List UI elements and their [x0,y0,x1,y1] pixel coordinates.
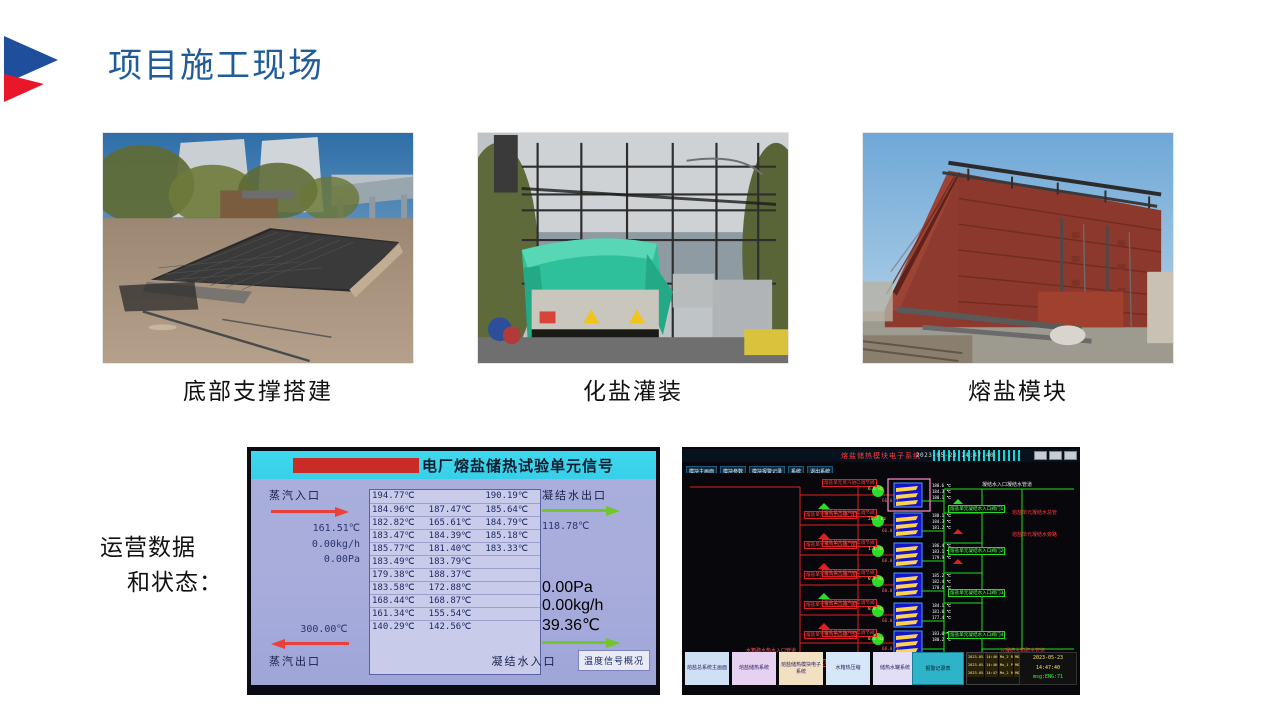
photo-cell-3 [862,132,1174,364]
unit-flow-label-5: 熔盐单元蒸汽进口调节阀 [822,599,877,607]
minimize-icon[interactable] [1034,451,1047,460]
close-icon[interactable] [1064,451,1077,460]
hmi-datetime: 2023-05-23 14:47:40 [916,452,994,459]
photo-molten-salt-module [862,132,1174,364]
redacted-plant-name [293,458,419,473]
toolbar-button-3[interactable]: 水箱热压缩 [826,652,870,685]
temp-cell: 190.19℃ [483,490,540,503]
temp-cell: 184.96℃ [370,503,427,516]
right-label-1: 熔盐单元凝结水总管 [1012,509,1057,516]
window-controls[interactable] [1034,451,1077,460]
signal-screen-title: 电厂熔盐储热试验单元信号 [422,455,614,476]
unit-flow-value-4: 0.7 Hz [868,577,884,582]
unit-flow-label-2: 熔盐单元蒸汽进口调节阀 [822,509,877,517]
temp-cell: 168.87℃ [427,594,484,607]
ops-label-line2: 和状态： [100,566,250,601]
steam-outlet-arrow-icon [271,639,349,649]
steam-inlet-temp: 161.51℃ [269,521,360,537]
svg-text:179.9 ℃: 179.9 ℃ [932,555,951,560]
unit-flow-label-1: 熔盐单元蒸汽进口调节阀 [822,479,877,487]
slide-root: 项目施工现场 [0,0,1280,720]
photo-salt-melting-filling [477,132,789,364]
temp-cell: 183.47℃ [370,529,427,542]
process-diagram: 188.6 ℃184.3 ℃180.1 ℃ 188.1 ℃184.3 ℃181.… [682,473,1080,663]
right-label-2: 熔盐单元凝结水旁路 [1012,531,1057,538]
temp-cell [483,594,540,607]
steam-inlet-flow: 0.00kg/h [269,537,360,553]
log-tag: Mo_1 Pt_G [999,661,1014,669]
unit-temp-value-1: 66.0 ℃ [882,499,900,504]
condensate-inlet-label-group: 凝结水入口 [478,653,570,669]
right-valve-label-3: 熔盐单元凝结水入口阀门3 [948,589,1005,597]
right-valve-label-4: 熔盐单元凝结水入口阀门4 [948,631,1005,639]
steam-inlet-pressure: 0.00Pa [269,552,360,568]
page-title: 项目施工现场 [108,38,324,87]
right-label-0: 凝结水入口凝结水管道 [982,481,1032,488]
log-date: 2023-05-23 [967,661,985,669]
log-tag: Mo_2 RP_Pt_G [999,669,1014,677]
hmi-status-box: 2023-05-23 14:47:40 msg:ENG:71 [1019,652,1077,685]
unit-temp-value-2: 66.0 ℃ [882,529,900,534]
steam-inlet-arrow-icon [271,507,349,517]
unit-flow-value-1: 6.6 Hz [868,487,884,492]
temp-cell: 187.47℃ [427,503,484,516]
unit-temp-value-4: 66.0 ℃ [882,589,900,594]
svg-text:188.1 ℃: 188.1 ℃ [932,513,951,518]
temp-cell: 172.88℃ [427,581,484,594]
table-row: 182.82℃165.61℃184.79℃ [370,516,540,529]
photo-cell-2 [477,132,789,364]
condensate-inlet-pressure: 0.00Pa [542,579,646,597]
steam-inlet-group: 蒸汽入口 161.51℃ 0.00kg/h 0.00Pa [269,487,364,568]
log-time: 14:46:18 [985,653,999,661]
unit-flow-label-3: 熔盐单元蒸汽进口调节阀 [822,539,877,547]
hmi-title: 熔盐储热模块电子系统 [841,451,921,461]
table-row: 179.38℃188.37℃ [370,568,540,581]
signal-screen-photo: 电厂熔盐储热试验单元信号 蒸汽入口 161.51℃ 0.00kg/h 0.00P… [247,447,660,695]
photo-row [0,132,1280,367]
condensate-inlet-flow: 0.00kg/h [542,597,646,615]
table-row: 183.49℃183.79℃ [370,555,540,568]
steam-outlet-temp: 300.00℃ [269,624,379,635]
table-row: 161.34℃155.54℃ [370,607,540,620]
temp-cell [483,620,540,633]
temp-cell: 185.77℃ [370,542,427,555]
temp-cell: 194.77℃ [370,490,427,503]
unit-flow-label-6: 熔盐单元蒸汽进口调节阀 [822,629,877,637]
temp-cell: 179.38℃ [370,568,427,581]
condensate-inlet-temp: 39.36℃ [542,615,646,635]
photo-caption-3: 熔盐模块 [862,372,1174,406]
photo-bottom-support-construction [102,132,414,364]
signal-screen-header: 电厂熔盐储热试验单元信号 [251,451,656,479]
steam-outlet-label: 蒸汽出口 [269,653,379,669]
condensate-outlet-values: 118.78℃ [542,519,646,535]
condensate-inlet-group: 0.00Pa 0.00kg/h 39.36℃ [542,579,646,651]
table-row: 140.29℃142.56℃ [370,620,540,633]
table-row: 168.44℃168.87℃ [370,594,540,607]
temp-cell: 168.44℃ [370,594,427,607]
table-row: 183.58℃172.88℃ [370,581,540,594]
table-row: 194.77℃190.19℃ [370,490,540,503]
svg-text:184.3 ℃: 184.3 ℃ [932,489,951,494]
svg-text:185.2 ℃: 185.2 ℃ [932,573,951,578]
temp-cell: 184.79℃ [483,516,540,529]
table-row: 183.47℃184.39℃185.18℃ [370,529,540,542]
toolbar-button-0[interactable]: 熔盐总系统主画面 [685,652,729,685]
temp-cell [427,490,484,503]
temp-cell: 183.49℃ [370,555,427,568]
svg-text:181.2 ℃: 181.2 ℃ [932,525,951,530]
right-valve-label-2: 熔盐单元凝结水入口阀门2 [948,547,1005,555]
unit-flow-value-6: 0.0 Hz [868,637,884,642]
ops-label-line1: 运营数据 [100,531,250,566]
signal-screen-inner: 电厂熔盐储热试验单元信号 蒸汽入口 161.51℃ 0.00kg/h 0.00P… [251,451,656,685]
status-time: 14:47:40 [1020,664,1076,674]
log-date: 2023-05-23 [967,653,985,661]
svg-text:180.1 ℃: 180.1 ℃ [932,495,951,500]
steam-inlet-values: 161.51℃ 0.00kg/h 0.00Pa [269,521,364,568]
temp-cell: 182.82℃ [370,516,427,529]
log-time: 14:47:02 [985,669,999,677]
temp-cell: 183.58℃ [370,581,427,594]
toolbar-button-2[interactable]: 熔盐储热模块电子系统 [779,652,823,685]
caption-row: 底部支撑搭建 化盐灌装 熔盐模块 [0,372,1280,406]
condensate-outlet-group: 凝结水出口 118.78℃ [542,487,646,535]
temperature-table-grid: 194.77℃190.19℃ 184.96℃187.47℃185.64℃ 182… [370,490,540,633]
maximize-icon[interactable] [1049,451,1062,460]
svg-text:188.6 ℃: 188.6 ℃ [932,483,951,488]
right-valve-label-1: 熔盐单元凝结水入口阀门1 [948,505,1005,513]
log-date: 2023-05-23 [967,669,985,677]
unit-flow-value-5: 0.0 Hz [868,607,884,612]
temp-cell: 142.56℃ [427,620,484,633]
status-message: msg:ENG:71 [1020,673,1076,683]
svg-text:184.3 ℃: 184.3 ℃ [932,519,951,524]
unit-temp-value-5: 66.0 ℃ [882,619,900,624]
arrow-logo [0,28,62,106]
temp-cell: 188.37℃ [427,568,484,581]
temp-cell: 181.40℃ [427,542,484,555]
log-time: 14:46:47 [985,661,999,669]
temp-cell [483,607,540,620]
temp-cell: 183.79℃ [427,555,484,568]
condensate-inlet-arrow-icon [542,638,620,648]
svg-text:177.4 ℃: 177.4 ℃ [932,615,951,620]
unit-flow-label-4: 熔盐单元蒸汽进口调节阀 [822,569,877,577]
temp-cell [483,581,540,594]
log-tag: Mo_2 RP_Pt_G [999,653,1014,661]
table-row: 184.96℃187.47℃185.64℃ [370,503,540,516]
temp-cell: 183.33℃ [483,542,540,555]
temperature-overview-button[interactable]: 温度信号概况 [578,650,650,671]
unit-flow-value-3: 1.1 Hz [868,547,884,552]
unit-temp-value-3: 66.0 ℃ [882,559,900,564]
condensate-outlet-arrow-icon [542,506,620,516]
svg-text:181.0 ℃: 181.0 ℃ [932,609,951,614]
condensate-outlet-temp: 118.78℃ [542,519,646,535]
photo-caption-2: 化盐灌装 [477,372,789,406]
condensate-inlet-values: 0.00Pa 0.00kg/h 39.36℃ [542,579,646,635]
steam-outlet-group: 300.00℃ 蒸汽出口 [269,624,379,669]
temp-cell: 161.34℃ [370,607,427,620]
toolbar-button-4[interactable]: 储热水罐系统 [873,652,917,685]
temp-cell [483,568,540,581]
svg-text:182.4 ℃: 182.4 ℃ [932,579,951,584]
photo-cell-1 [102,132,414,364]
toolbar-button-1[interactable]: 熔盐储热系统 [732,652,776,685]
ops-data-label: 运营数据 和状态： [100,531,250,600]
hmi-titlebar: 熔盐储热模块电子系统 2023-05-23 14:47:40 [682,449,1080,462]
status-date: 2023-05-23 [1020,654,1076,664]
temp-cell: 185.18℃ [483,529,540,542]
temp-cell: 184.39℃ [427,529,484,542]
hmi-toolbar[interactable]: 熔盐总系统主画面 熔盐储热系统 熔盐储热模块电子系统 水箱热压缩 储热水罐系统 [685,652,917,685]
temp-cell [483,555,540,568]
hmi-screen-photo: 熔盐储热模块电子系统 2023-05-23 14:47:40 模块主画面 模块参… [682,447,1080,695]
alarm-log-tab[interactable]: 报警记录表 [912,652,964,685]
unit-flow-value-2: 28.7 Hz [868,517,886,522]
photo-caption-1: 底部支撑搭建 [102,372,414,406]
table-row: 185.77℃181.40℃183.33℃ [370,542,540,555]
condensate-outlet-label: 凝结水出口 [542,487,646,503]
steam-inlet-label: 蒸汽入口 [269,487,364,503]
temperature-table-body: 194.77℃190.19℃ 184.96℃187.47℃185.64℃ 182… [370,490,540,633]
svg-text:184.1 ℃: 184.1 ℃ [932,603,951,608]
temperature-table: 194.77℃190.19℃ 184.96℃187.47℃185.64℃ 182… [369,489,541,675]
temp-cell: 165.61℃ [427,516,484,529]
temp-cell: 185.64℃ [483,503,540,516]
condensate-inlet-label: 凝结水入口 [478,653,570,669]
temp-cell: 155.54℃ [427,607,484,620]
